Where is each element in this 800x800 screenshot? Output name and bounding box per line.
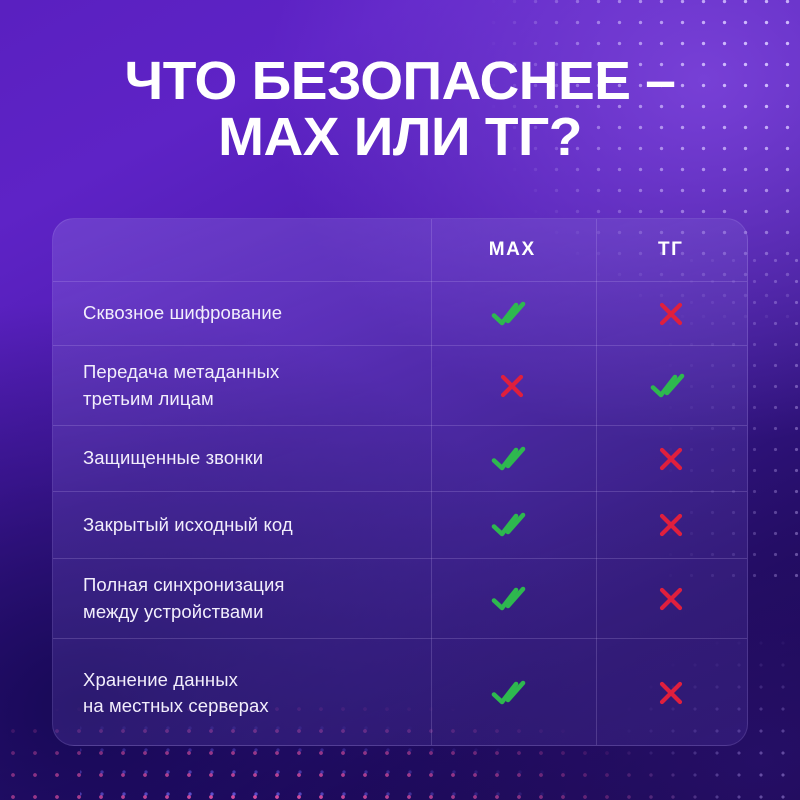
double-check-icon [491,586,533,612]
page-title-line-2: MAX ИЛИ ТГ? [0,110,800,166]
double-check-icon [491,446,533,472]
row-label: Хранение данных на местных серверах [53,667,430,720]
cell-tg [594,680,747,706]
row-label-line-2: третьим лицам [83,388,214,409]
cell-tg [594,512,747,538]
double-check-icon [650,373,692,399]
table-row: Сквозное шифрование [53,282,747,346]
cell-max [430,680,595,706]
cell-max [430,446,595,472]
cell-tg [594,446,747,472]
table-row: Хранение данных на местных серверах [53,639,747,746]
double-check-icon [491,512,533,538]
comparison-table: MAX ТГ Сквозное шифрование [52,218,748,746]
cross-icon [658,301,684,327]
cell-tg [594,301,747,327]
cell-tg [594,373,747,399]
page-title-line-1: ЧТО БЕЗОПАСНЕЕ – [0,54,800,110]
row-label: Передача метаданных третьим лицам [53,359,430,412]
cross-icon [658,512,684,538]
row-label-line-2: между устройствами [83,601,264,622]
row-label-line-2: на местных серверах [83,695,269,716]
cell-max [430,512,595,538]
infographic-canvas: ЧТО БЕЗОПАСНЕЕ – MAX ИЛИ ТГ? MAX ТГ Скво… [0,0,800,800]
row-label-line-1: Передача метаданных [83,361,279,382]
double-check-icon [491,301,533,327]
page-title: ЧТО БЕЗОПАСНЕЕ – MAX ИЛИ ТГ? [0,54,800,165]
table-header-tg: ТГ [594,239,747,261]
row-label-line-1: Полная синхронизация [83,574,285,595]
row-label: Закрытый исходный код [53,512,430,538]
row-label: Сквозное шифрование [53,300,430,326]
cross-icon [658,680,684,706]
row-label: Полная синхронизация между устройствами [53,572,430,625]
table-row: Защищенные звонки [53,426,747,492]
row-label-line-1: Хранение данных [83,669,238,690]
cell-max [430,586,595,612]
cross-icon [499,373,525,399]
cross-icon [658,586,684,612]
table-header-max: MAX [430,239,595,261]
cell-max [430,373,595,399]
cross-icon [658,446,684,472]
row-label: Защищенные звонки [53,445,430,471]
double-check-icon [491,680,533,706]
cell-max [430,301,595,327]
table-header-row: MAX ТГ [53,219,747,282]
table-row: Закрытый исходный код [53,492,747,559]
cell-tg [594,586,747,612]
table-row: Передача метаданных третьим лицам [53,346,747,426]
table-row: Полная синхронизация между устройствами [53,559,747,639]
